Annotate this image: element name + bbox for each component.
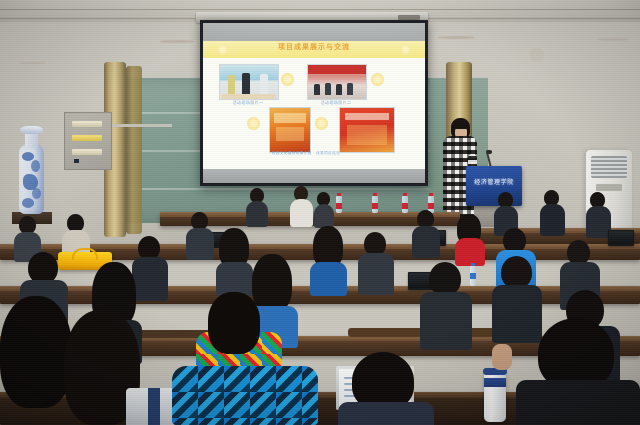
screen-bottom-bar (203, 169, 425, 183)
water-bottle (470, 266, 476, 286)
ac-vent-icon (591, 156, 627, 178)
slide-title: 项目成果展示与交流 (203, 42, 425, 52)
projection-screen: 项目成果展示与交流 (200, 20, 428, 186)
projected-slide: 项目成果展示与交流 (203, 41, 425, 169)
blue-and-white-porcelain-vase (16, 126, 46, 214)
wall-conduit (110, 124, 172, 127)
raised-hand (492, 344, 512, 370)
slide-subcaption: 校园文化建设成果汇报 · 优秀项目巡礼 (211, 151, 401, 156)
decorative-column-left-inner (126, 66, 142, 234)
slide-photo-4 (339, 107, 395, 153)
travel-mug[interactable] (484, 372, 506, 422)
water-bottle (402, 196, 408, 213)
slide-caption-1: 活动现场照片一 (219, 100, 277, 106)
slide-caption-2: 活动现场照片二 (307, 100, 365, 106)
lecture-hall-photo: 项目成果展示与交流 (0, 0, 640, 425)
desk-monitor (608, 230, 634, 246)
slide-photo-2 (307, 64, 367, 100)
wall-control-panel[interactable] (64, 112, 112, 170)
slide-photo-1 (219, 64, 279, 100)
screen-unlit-band (203, 23, 425, 41)
water-bottle (372, 196, 378, 213)
blue-geometric-jacket (172, 366, 318, 425)
podium-institution-text: 经济管理学院 (466, 177, 522, 186)
microphone-head-icon (486, 150, 492, 154)
presenter-bangs (452, 123, 469, 129)
tote-bag-strap (148, 388, 160, 425)
lectern: 经济管理学院 (466, 166, 522, 206)
water-bottle (336, 196, 342, 213)
slide-photo-3 (269, 107, 311, 153)
ac-control-panel[interactable] (596, 184, 622, 191)
